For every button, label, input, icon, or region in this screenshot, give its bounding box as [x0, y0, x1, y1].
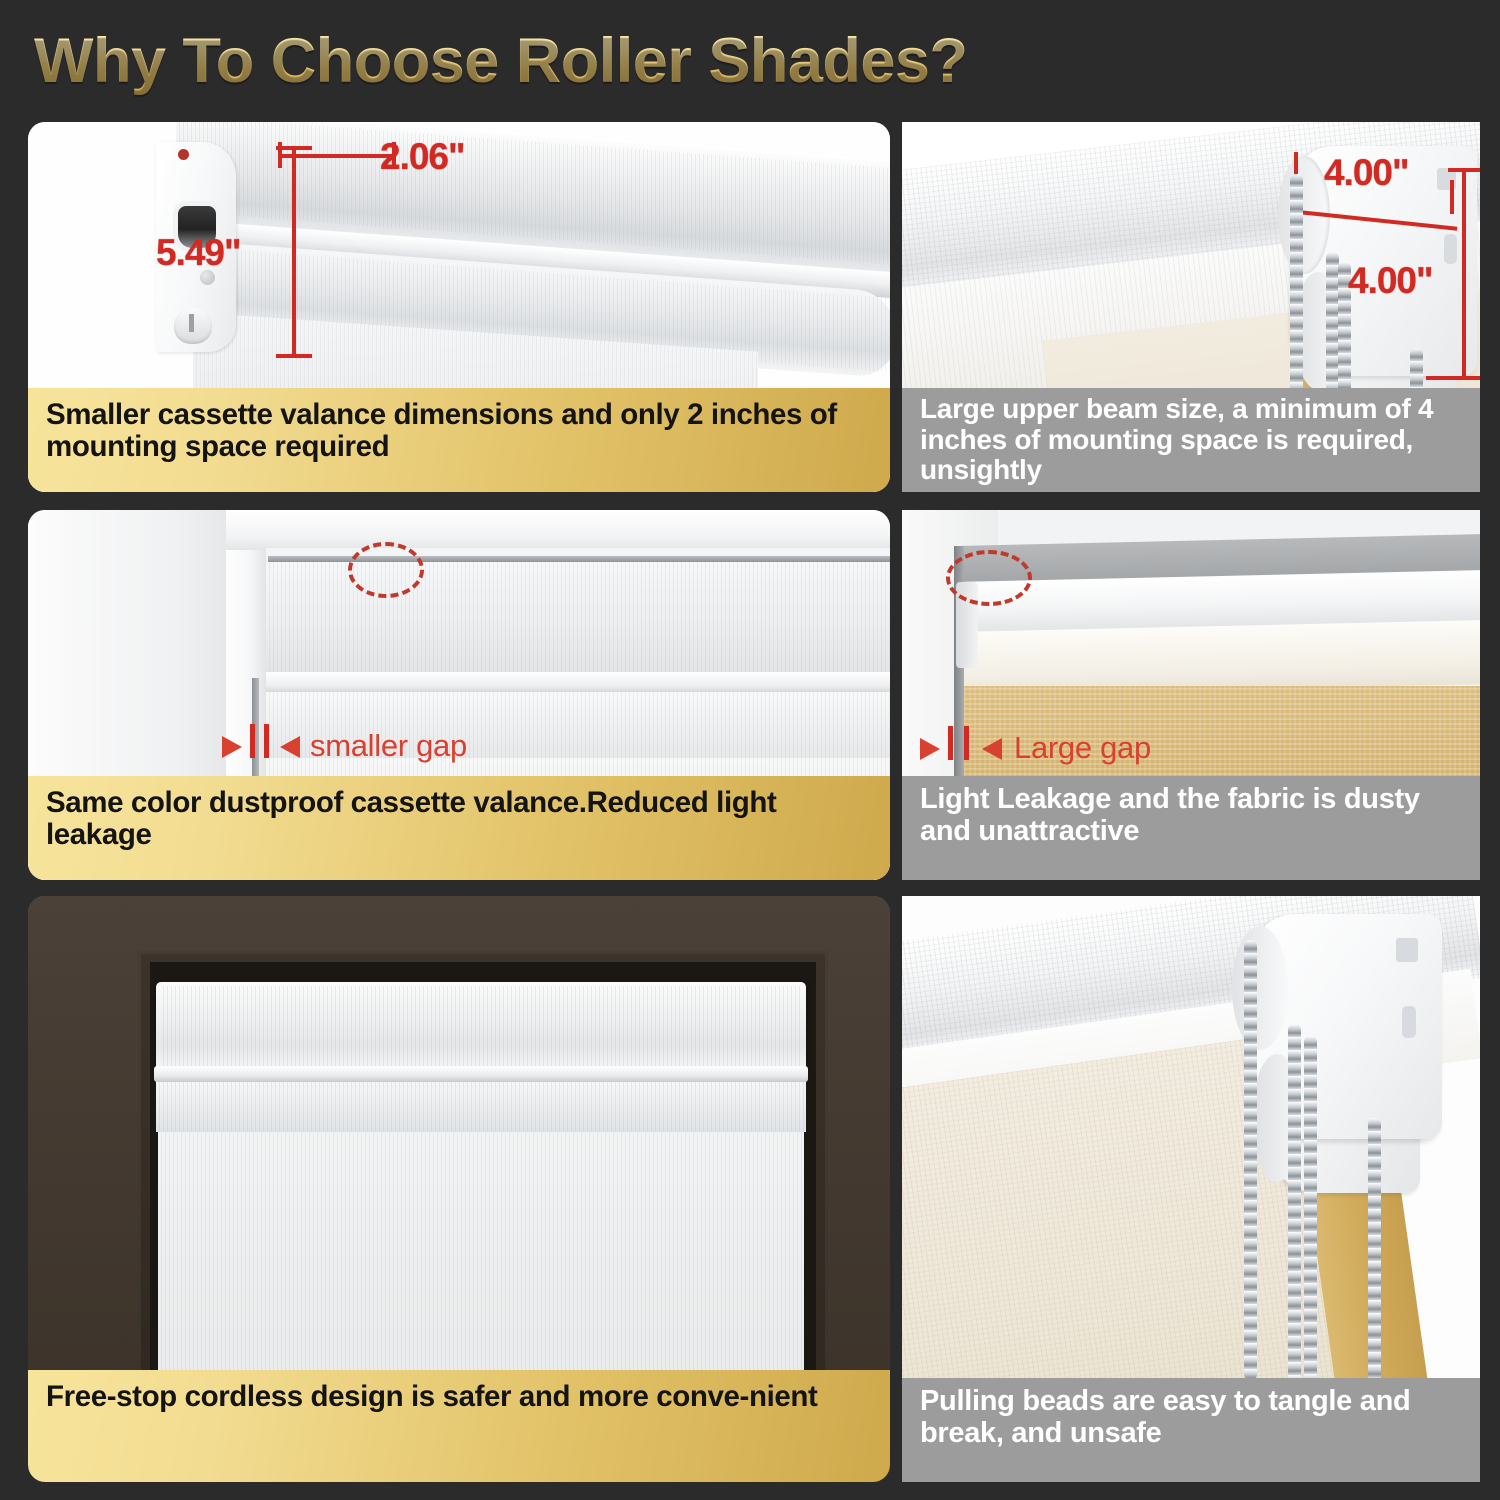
bead-chain: [1288, 1024, 1301, 1384]
gap-arrow-right-icon: [280, 736, 300, 758]
annotation-smaller-gap: smaller gap: [310, 728, 467, 764]
caption-con-upper-beam: Large upper beam size, a minimum of 4 in…: [902, 388, 1480, 492]
panel-con-upper-beam: 4.00" 4.00" Large upper beam size, a min…: [902, 122, 1480, 492]
bead-chain: [1368, 1118, 1381, 1386]
gap-arrow-left-icon: [222, 736, 242, 758]
annotation-height-dimension: 5.49": [156, 232, 241, 274]
panel-pro-cordless: Free-stop cordless design is safer and m…: [28, 896, 890, 1482]
gap-arrow-right-icon: [982, 738, 1002, 760]
page-title: Why To Choose Roller Shades?: [34, 22, 1434, 100]
caption-pro-cassette: Smaller cassette valance dimensions and …: [28, 388, 890, 492]
highlight-circle-gap: [946, 550, 1032, 606]
annotation-beam-height: 4.00": [1348, 260, 1433, 302]
highlight-circle-seam: [348, 542, 424, 598]
annotation-beam-width: 4.00": [1324, 152, 1409, 194]
annotation-width-dimension: 2.06": [380, 136, 465, 178]
caption-pro-cordless: Free-stop cordless design is safer and m…: [28, 1370, 890, 1482]
panel-pro-cassette: 2.06" 5.49" Smaller cassette valance dim…: [28, 122, 890, 492]
bead-chain: [1244, 940, 1257, 1380]
panel-con-beads: Pulling beads are easy to tangle and bre…: [902, 896, 1480, 1482]
bead-chain: [1304, 1036, 1317, 1388]
caption-con-light-leak: Light Leakage and the fabric is dusty an…: [902, 776, 1480, 880]
gap-arrow-left-icon: [920, 738, 940, 760]
comparison-grid: 2.06" 5.49" Smaller cassette valance dim…: [0, 112, 1500, 1492]
header: Why To Choose Roller Shades?: [34, 22, 1434, 100]
annotation-large-gap: Large gap: [1014, 730, 1151, 766]
caption-pro-dustproof: Same color dustproof cassette valance.Re…: [28, 776, 890, 880]
panel-pro-dustproof: smaller gap Same color dustproof cassett…: [28, 510, 890, 880]
caption-con-beads: Pulling beads are easy to tangle and bre…: [902, 1378, 1480, 1482]
panel-con-light-leak: Large gap Light Leakage and the fabric i…: [902, 510, 1480, 880]
